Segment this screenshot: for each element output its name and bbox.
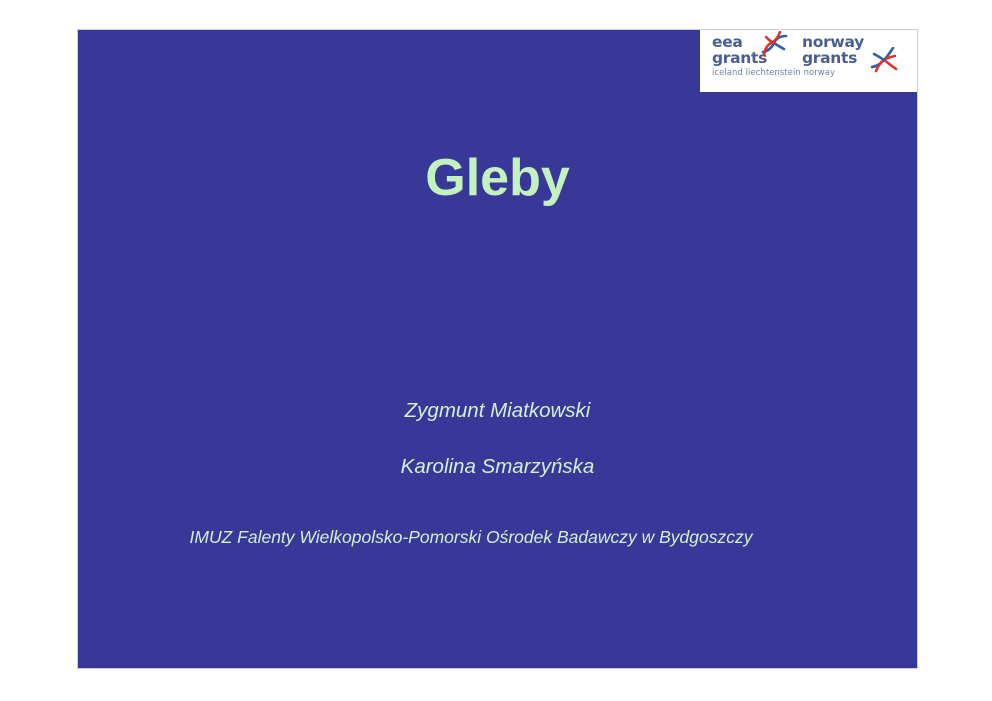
presentation-slide: eea grants norway grants iceland liechte…: [78, 30, 917, 668]
eea-grants-cross-icon: [759, 31, 789, 57]
norway-grants-line1: norway: [802, 34, 864, 50]
eea-norway-grants-logo: eea grants norway grants iceland liechte…: [700, 30, 917, 92]
logo-content: eea grants norway grants iceland liechte…: [710, 34, 910, 90]
logo-tagline: iceland liechtenstein norway: [712, 67, 835, 77]
affiliation-text: IMUZ Falenty Wielkopolsko-Pomorski Ośrod…: [78, 525, 864, 549]
norway-grants-wordmark: norway grants: [802, 34, 864, 66]
author-name: Zygmunt Miatkowski: [78, 398, 917, 424]
norway-grants-line2: grants: [802, 50, 864, 66]
norway-grants-cross-icon: [869, 47, 899, 73]
slide-title: Gleby: [78, 148, 917, 208]
author-name: Karolina Smarzyńska: [78, 454, 917, 480]
